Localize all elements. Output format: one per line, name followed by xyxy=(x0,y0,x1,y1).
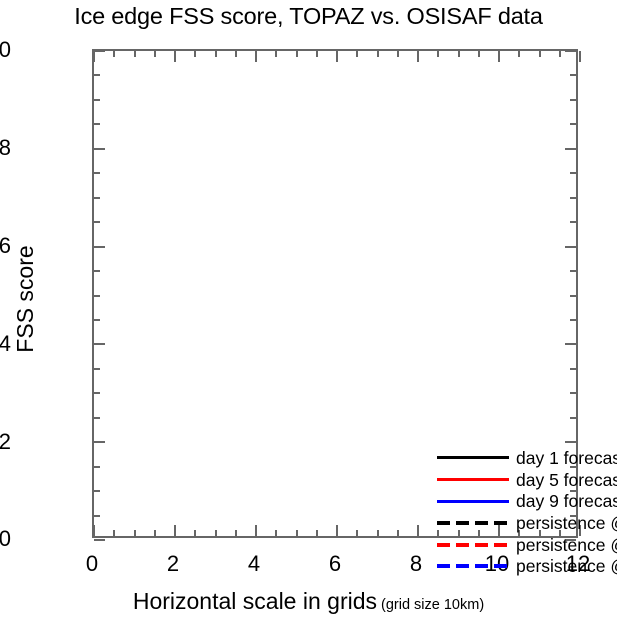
legend-label: persistence @day 9 xyxy=(516,557,617,575)
x-tick-minor xyxy=(377,530,379,536)
legend-label: day 1 forecast xyxy=(516,449,617,467)
y-tick-right-minor xyxy=(570,368,576,370)
legend-label: persistence @day 1 xyxy=(516,514,617,532)
y-tick-minor xyxy=(94,417,100,419)
y-tick-label-0_6: 0.6 xyxy=(0,235,11,257)
x-tick-top-minor xyxy=(194,51,196,57)
x-tick-top-minor xyxy=(458,51,460,57)
legend-line-solid xyxy=(437,478,509,481)
x-tick-minor xyxy=(113,530,115,536)
chart-legend: day 1 forecastday 5 forecastday 9 foreca… xyxy=(437,447,617,577)
x-tick-top-minor xyxy=(559,51,561,57)
legend-line-solid xyxy=(437,500,509,503)
y-tick-right-minor xyxy=(570,99,576,101)
x-tick-label-0: 0 xyxy=(62,553,122,575)
y-tick-label-1_0: 1.0 xyxy=(0,39,11,61)
y-tick-right-minor xyxy=(570,270,576,272)
x-tick-label-6: 6 xyxy=(305,553,365,575)
x-tick-major xyxy=(255,525,257,536)
legend-swatch-dashed-line-icon xyxy=(437,557,509,575)
legend-line-dashed xyxy=(437,564,509,568)
y-tick-minor xyxy=(94,172,100,174)
legend-item[interactable]: persistence @day 9 xyxy=(437,555,617,577)
x-tick-top-minor xyxy=(154,51,156,57)
x-tick-major xyxy=(417,525,419,536)
x-tick-major xyxy=(174,525,176,536)
x-axis-title-note: (grid size 10km) xyxy=(381,597,484,613)
legend-line-solid xyxy=(437,456,509,459)
legend-swatch-solid-line-icon xyxy=(437,471,509,489)
x-tick-minor xyxy=(275,530,277,536)
plot-area: day 1 forecastday 5 forecastday 9 foreca… xyxy=(92,49,578,538)
y-tick-right-minor xyxy=(570,295,576,297)
x-tick-top-minor xyxy=(235,51,237,57)
x-tick-top-major xyxy=(93,51,95,62)
legend-line-dashed xyxy=(437,521,509,525)
x-axis-title-main: Horizontal scale in grids xyxy=(133,588,377,614)
x-tick-top-minor xyxy=(113,51,115,57)
y-tick-right-major xyxy=(565,441,576,443)
x-tick-minor xyxy=(316,530,318,536)
y-tick-minor xyxy=(94,466,100,468)
x-tick-label-2: 2 xyxy=(143,553,203,575)
legend-item[interactable]: day 5 forecast xyxy=(437,469,617,491)
x-axis-title: Horizontal scale in grids(grid size 10km… xyxy=(0,588,617,618)
legend-label: persistence @day 5 xyxy=(516,536,617,554)
y-tick-right-minor xyxy=(570,197,576,199)
y-axis-title: FSS score xyxy=(13,179,37,419)
legend-swatch-solid-line-icon xyxy=(437,449,509,467)
y-tick-major xyxy=(94,343,105,345)
y-tick-right-major xyxy=(565,148,576,150)
legend-swatch-solid-line-icon xyxy=(437,492,509,510)
y-tick-minor xyxy=(94,221,100,223)
y-tick-right-minor xyxy=(570,221,576,223)
x-tick-minor xyxy=(134,530,136,536)
y-tick-minor xyxy=(94,295,100,297)
figure-canvas: Ice edge FSS score, TOPAZ vs. OSISAF dat… xyxy=(0,0,617,625)
x-tick-minor xyxy=(397,530,399,536)
y-tick-right-major xyxy=(565,50,576,52)
legend-item[interactable]: persistence @day 5 xyxy=(437,534,617,556)
x-tick-top-major xyxy=(417,51,419,62)
y-tick-minor xyxy=(94,490,100,492)
legend-label: day 5 forecast xyxy=(516,471,617,489)
y-tick-label-0_4: 0.4 xyxy=(0,333,11,355)
x-tick-top-minor xyxy=(377,51,379,57)
y-tick-right-minor xyxy=(570,172,576,174)
y-tick-right-minor xyxy=(570,417,576,419)
x-tick-top-minor xyxy=(215,51,217,57)
y-tick-right-minor xyxy=(570,392,576,394)
x-tick-label-4: 4 xyxy=(224,553,284,575)
x-tick-top-major xyxy=(498,51,500,62)
x-tick-top-minor xyxy=(518,51,520,57)
y-tick-major xyxy=(94,246,105,248)
x-tick-minor xyxy=(356,530,358,536)
x-tick-major xyxy=(93,525,95,536)
x-tick-top-minor xyxy=(539,51,541,57)
y-tick-right-minor xyxy=(570,123,576,125)
legend-swatch-dashed-line-icon xyxy=(437,514,509,532)
y-tick-label-0_2: 0.2 xyxy=(0,431,11,453)
y-tick-minor xyxy=(94,368,100,370)
x-tick-top-minor xyxy=(356,51,358,57)
x-tick-top-minor xyxy=(296,51,298,57)
legend-label: day 9 forecast xyxy=(516,492,617,510)
y-tick-minor xyxy=(94,123,100,125)
y-tick-label-0_8: 0.8 xyxy=(0,137,11,159)
legend-item[interactable]: day 9 forecast xyxy=(437,490,617,512)
legend-line-dashed xyxy=(437,543,509,547)
y-tick-right-minor xyxy=(570,74,576,76)
x-tick-minor xyxy=(194,530,196,536)
y-tick-major xyxy=(94,148,105,150)
y-tick-minor xyxy=(94,270,100,272)
y-tick-label-0_0: 0.0 xyxy=(0,528,11,550)
x-tick-top-minor xyxy=(316,51,318,57)
x-tick-top-major xyxy=(255,51,257,62)
chart-title: Ice edge FSS score, TOPAZ vs. OSISAF dat… xyxy=(0,3,617,30)
x-tick-top-minor xyxy=(275,51,277,57)
x-tick-top-minor xyxy=(134,51,136,57)
y-tick-right-major xyxy=(565,246,576,248)
y-tick-minor xyxy=(94,99,100,101)
legend-item[interactable]: persistence @day 1 xyxy=(437,512,617,534)
x-tick-top-minor xyxy=(397,51,399,57)
y-tick-major xyxy=(94,539,105,541)
x-tick-minor xyxy=(215,530,217,536)
legend-swatch-dashed-line-icon xyxy=(437,536,509,554)
x-tick-major xyxy=(336,525,338,536)
y-tick-major xyxy=(94,441,105,443)
x-tick-top-major xyxy=(174,51,176,62)
x-tick-minor xyxy=(154,530,156,536)
legend-item[interactable]: day 1 forecast xyxy=(437,447,617,469)
y-tick-right-minor xyxy=(570,319,576,321)
y-tick-minor xyxy=(94,197,100,199)
x-tick-minor xyxy=(296,530,298,536)
y-tick-minor xyxy=(94,74,100,76)
y-tick-minor xyxy=(94,515,100,517)
x-tick-top-major xyxy=(336,51,338,62)
x-tick-minor xyxy=(235,530,237,536)
x-tick-top-major xyxy=(579,51,581,62)
y-tick-minor xyxy=(94,319,100,321)
y-tick-major xyxy=(94,50,105,52)
x-tick-top-minor xyxy=(437,51,439,57)
x-tick-top-minor xyxy=(478,51,480,57)
y-tick-minor xyxy=(94,392,100,394)
y-tick-right-major xyxy=(565,343,576,345)
